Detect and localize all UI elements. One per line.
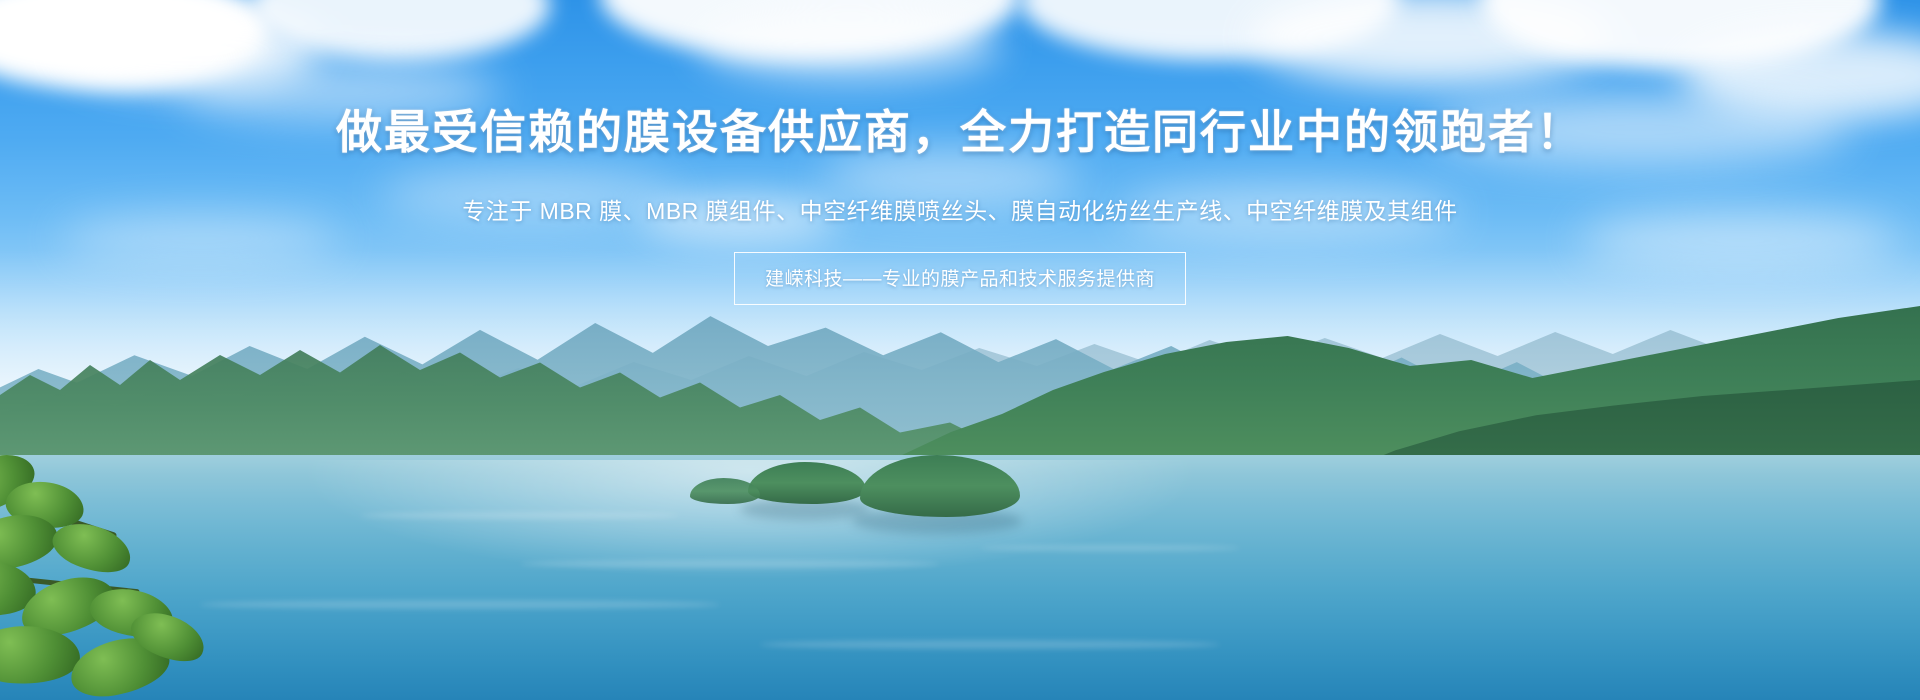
banner-subtitle: 专注于 MBR 膜、MBR 膜组件、中空纤维膜喷丝头、膜自动化纺丝生产线、中空纤… [462, 192, 1457, 226]
banner-headline: 做最受信赖的膜设备供应商，全力打造同行业中的领跑者！ [336, 96, 1584, 162]
water-streak [200, 600, 720, 609]
water-streak [360, 512, 680, 519]
water-streak [520, 560, 940, 568]
hero-banner: 做最受信赖的膜设备供应商，全力打造同行业中的领跑者！ 专注于 MBR 膜、MBR… [0, 0, 1920, 700]
cloud-shape [700, 10, 1000, 80]
foreground-foliage [0, 440, 260, 700]
banner-tagline-box: 建嵘科技——专业的膜产品和技术服务提供商 [734, 252, 1186, 305]
water-streak [760, 640, 1220, 649]
water-streak [980, 545, 1240, 551]
